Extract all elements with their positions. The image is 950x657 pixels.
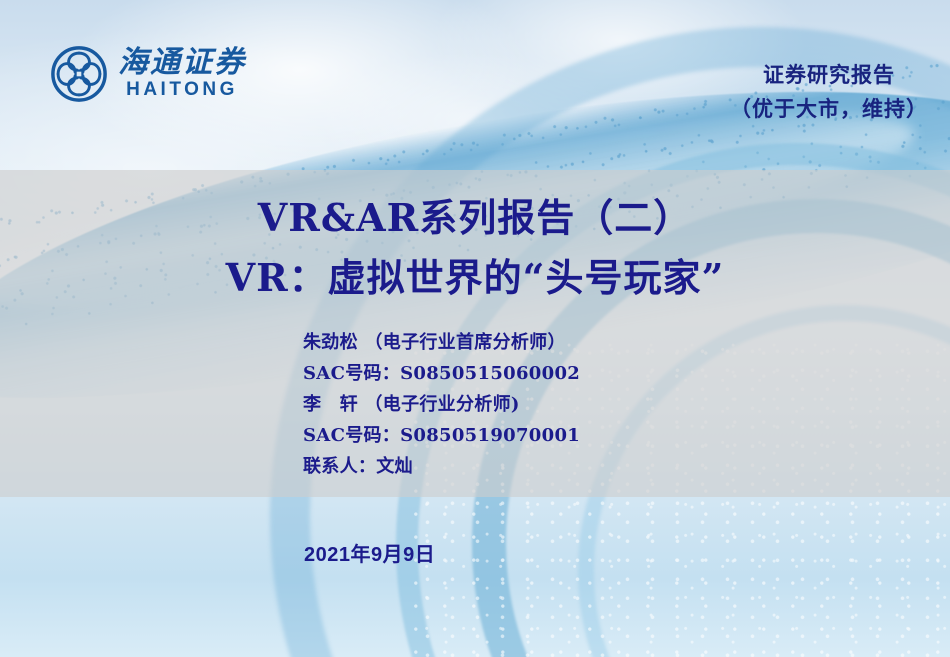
logo-name-cn: 海通证券 [118, 47, 246, 79]
logo-wordmark: 海通证券 HAITONG [118, 47, 246, 100]
author-line: 朱劲松 （电子行业首席分析师） [303, 328, 580, 359]
author-line: 联系人：文灿 [303, 452, 580, 483]
haitong-circular-emblem-icon [50, 45, 108, 103]
title-line-2: VR：虚拟世界的“头号玩家” [0, 248, 950, 308]
publication-date: 2021年9月9日 [304, 538, 435, 567]
author-block: 朱劲松 （电子行业首席分析师） SAC号码：S0850515060002 李 轩… [303, 328, 580, 483]
author-line: SAC号码：S0850515060002 [303, 359, 580, 390]
rating-label: （优于大市，维持） [730, 92, 928, 126]
page-title: VR&AR系列报告（二） VR：虚拟世界的“头号玩家” [0, 188, 950, 308]
report-cover-slide: 海通证券 HAITONG 证券研究报告 （优于大市，维持） VR&AR系列报告（… [0, 0, 950, 657]
logo-name-en: HAITONG [126, 80, 238, 101]
title-line-1: VR&AR系列报告（二） [0, 188, 950, 248]
author-line: SAC号码：S0850519070001 [303, 421, 580, 452]
report-type-label: 证券研究报告 [730, 58, 928, 92]
haitong-logo: 海通证券 HAITONG [50, 45, 246, 103]
author-line: 李 轩 （电子行业分析师) [303, 390, 580, 421]
report-type-block: 证券研究报告 （优于大市，维持） [730, 58, 928, 126]
